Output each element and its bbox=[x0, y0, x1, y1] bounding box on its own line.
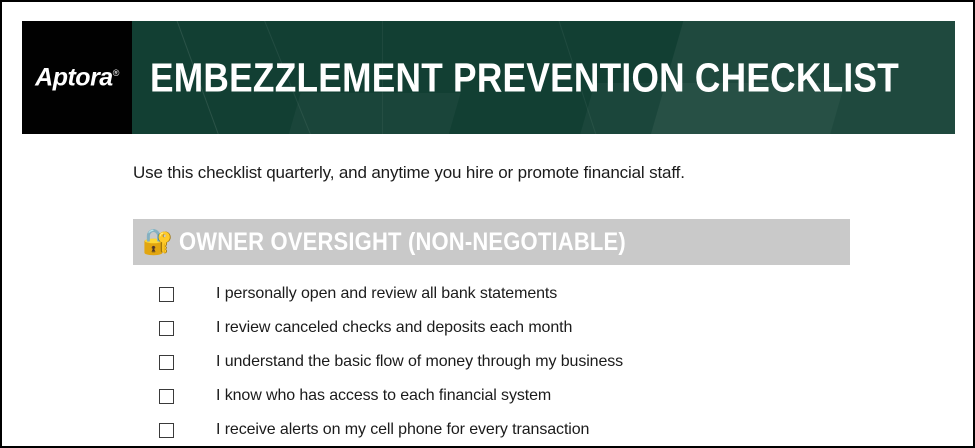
list-item-label: I understand the basic flow of money thr… bbox=[216, 353, 623, 371]
brand-logo-block: Aptora® bbox=[22, 21, 132, 134]
list-item-label: I receive alerts on my cell phone for ev… bbox=[216, 421, 589, 439]
checkbox[interactable] bbox=[159, 423, 174, 438]
document-header-banner: Aptora® EMBEZZLEMENT PREVENTION CHECKLIS… bbox=[22, 21, 955, 134]
list-item-label: I know who has access to each financial … bbox=[216, 387, 551, 405]
list-item[interactable]: I receive alerts on my cell phone for ev… bbox=[159, 413, 949, 447]
section-header-owner-oversight: 🔐 OWNER OVERSIGHT (NON-NEGOTIABLE) bbox=[133, 219, 850, 265]
page-title: EMBEZZLEMENT PREVENTION CHECKLIST bbox=[150, 57, 899, 98]
document-page: Aptora® EMBEZZLEMENT PREVENTION CHECKLIS… bbox=[0, 0, 975, 448]
list-item[interactable]: I personally open and review all bank st… bbox=[159, 277, 949, 311]
brand-logo: Aptora® bbox=[35, 63, 119, 92]
checkbox[interactable] bbox=[159, 355, 174, 370]
list-item[interactable]: I understand the basic flow of money thr… bbox=[159, 345, 949, 379]
checklist: I personally open and review all bank st… bbox=[159, 277, 949, 447]
brand-trademark-symbol: ® bbox=[113, 68, 119, 78]
checkbox[interactable] bbox=[159, 287, 174, 302]
intro-text: Use this checklist quarterly, and anytim… bbox=[133, 163, 685, 183]
list-item-label: I personally open and review all bank st… bbox=[216, 285, 557, 303]
locked-with-key-icon: 🔐 bbox=[142, 230, 171, 255]
list-item[interactable]: I review canceled checks and deposits ea… bbox=[159, 311, 949, 345]
brand-logo-text: Aptora bbox=[35, 63, 113, 91]
checkbox[interactable] bbox=[159, 389, 174, 404]
list-item[interactable]: I know who has access to each financial … bbox=[159, 379, 949, 413]
checkbox[interactable] bbox=[159, 321, 174, 336]
section-title: OWNER OVERSIGHT (NON-NEGOTIABLE) bbox=[179, 228, 626, 257]
list-item-label: I review canceled checks and deposits ea… bbox=[216, 319, 572, 337]
